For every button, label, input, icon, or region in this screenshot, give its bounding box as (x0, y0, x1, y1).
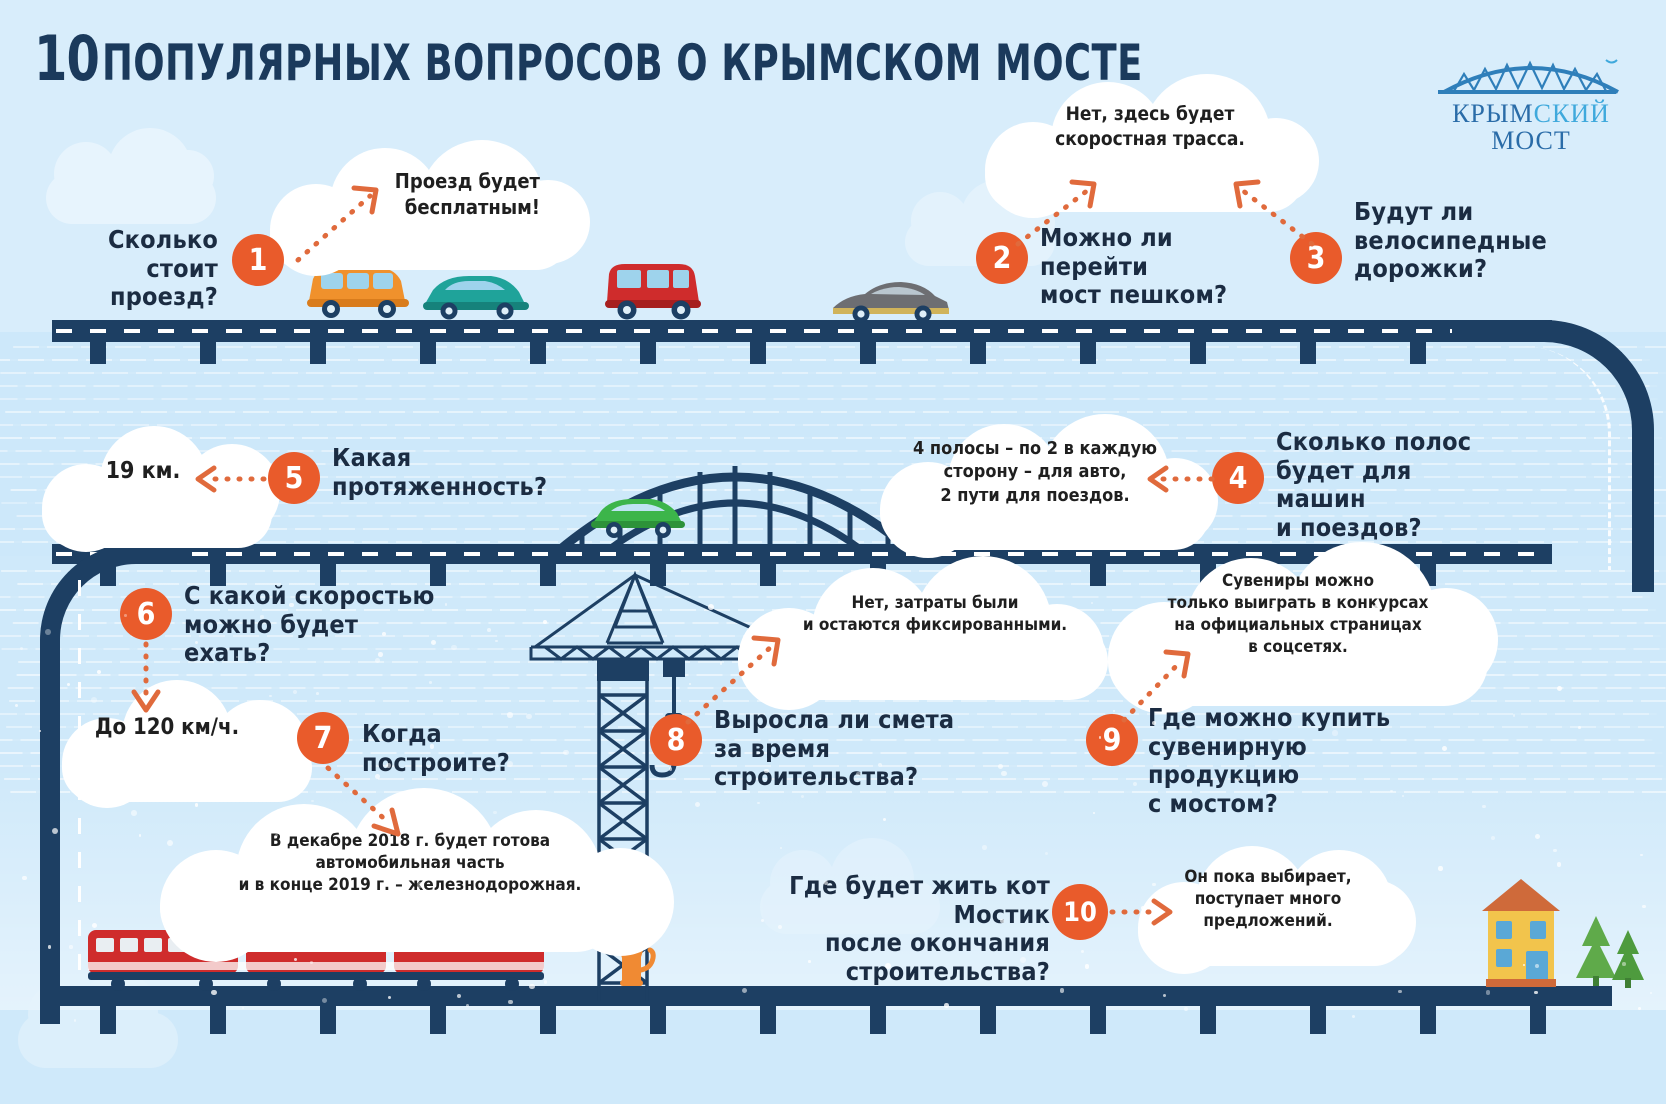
badge-number-4: 4 (1229, 461, 1248, 496)
bridge-pylon (1420, 1006, 1436, 1034)
arrow-8 (680, 630, 800, 730)
question-text-1: Сколько стоит проезд? (36, 226, 218, 312)
question-text-3: Будут ли велосипедные дорожки? (1354, 198, 1564, 284)
green-fir-trees-icon (1572, 890, 1644, 988)
bridge-pylon (650, 1006, 666, 1034)
vehicle-teal-sedan (421, 264, 531, 322)
arrow-4 (1140, 462, 1220, 496)
bridge-pylon (210, 1006, 226, 1034)
bridge-pylon (1530, 1006, 1546, 1034)
question-badge-1[interactable]: 1 (232, 234, 284, 286)
arrow-5 (186, 462, 272, 496)
answer-text-10: Он пока выбирает, поступает много предло… (1168, 866, 1368, 932)
bridge-pylon (980, 1006, 996, 1034)
badge-number-7: 7 (314, 721, 333, 756)
answer-text-4: 4 полосы – по 2 в каждую сторону – для а… (900, 437, 1170, 507)
bridge-pylon (320, 1006, 336, 1034)
vehicle-green-car-on-arch (589, 487, 687, 541)
question-text-5: Какая протяженность? (332, 444, 562, 501)
question-badge-6[interactable]: 6 (120, 588, 172, 640)
question-text-10: Где будет жить кот Мостик после окончани… (710, 872, 1050, 986)
badge-number-5: 5 (285, 461, 304, 496)
badge-number-6: 6 (137, 597, 156, 632)
arrow-6 (128, 640, 168, 718)
question-badge-10[interactable]: 10 (1052, 884, 1108, 940)
question-badge-7[interactable]: 7 (297, 712, 349, 764)
arrow-2 (1008, 178, 1118, 252)
question-badge-5[interactable]: 5 (268, 452, 320, 504)
bridge-pylon (100, 1006, 116, 1034)
infographic-canvas: 10популярных вопросов о крымском мосте К… (0, 0, 1666, 1104)
vehicle-red-suv (601, 254, 705, 322)
question-text-6: С какой скоростью можно будет ехать? (184, 582, 444, 668)
arrow-7 (318, 762, 428, 852)
badge-number-10: 10 (1063, 897, 1097, 928)
bridge-pylon (1200, 1006, 1216, 1034)
bridge-pylon (1090, 1006, 1106, 1034)
bridge-pylon (1310, 1006, 1326, 1034)
arrow-3 (1214, 178, 1324, 252)
question-text-4: Сколько полос будет для машин и поездов? (1276, 428, 1506, 542)
arrow-1 (284, 176, 404, 266)
answer-text-6: До 120 км/ч. (82, 714, 252, 743)
answer-text-8: Нет, затраты были и остаются фиксированн… (790, 592, 1080, 636)
badge-number-1: 1 (249, 243, 268, 278)
arrow-9 (1118, 646, 1208, 728)
bridge-pylon (540, 1006, 556, 1034)
bridge-pylon (760, 1006, 776, 1034)
vehicle-grey-sportscar (831, 274, 953, 324)
arrow-10 (1108, 896, 1178, 928)
bridge-pylon (870, 1006, 886, 1034)
bridge-pylon (430, 1006, 446, 1034)
answer-text-2-3: Нет, здесь будет скоростная трасса. (1000, 102, 1300, 151)
yellow-house-icon (1478, 875, 1564, 987)
